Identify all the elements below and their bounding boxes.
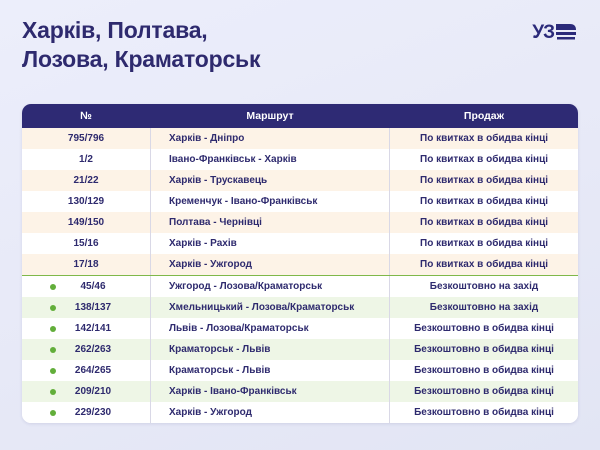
- page-title-line-1: Харків, Полтава,: [22, 16, 442, 45]
- table-row: 229/230Харків - УжгородБезкоштовно в оби…: [22, 402, 578, 423]
- free-travel-dot-icon: [50, 305, 56, 311]
- page-title-line-2: Лозова, Краматорськ: [22, 45, 442, 74]
- table-row: 149/150Полтава - ЧернівціПо квитках в об…: [22, 212, 578, 233]
- cell-train-number: 264/265: [22, 360, 150, 381]
- cell-sale-condition: По квитках в обидва кінці: [390, 170, 578, 191]
- table-row: 1/2Івано-Франківськ - ХарківПо квитках в…: [22, 149, 578, 170]
- cell-sale-condition: По квитках в обидва кінці: [390, 191, 578, 212]
- cell-route: Харків - Дніпро: [150, 128, 390, 149]
- cell-train-number: 262/263: [22, 339, 150, 360]
- train-number-label: 1/2: [79, 154, 93, 165]
- column-header-route: Маршрут: [150, 104, 390, 128]
- table-row: 21/22Харків - ТрускавецьПо квитках в оби…: [22, 170, 578, 191]
- cell-sale-condition: Безкоштовно на захід: [390, 276, 578, 297]
- cell-train-number: 21/22: [22, 170, 150, 191]
- cell-train-number: 149/150: [22, 212, 150, 233]
- table-row: 15/16Харків - РахівПо квитках в обидва к…: [22, 233, 578, 254]
- cell-train-number: 209/210: [22, 381, 150, 402]
- cell-sale-condition: Безкоштовно в обидва кінці: [390, 360, 578, 381]
- cell-route: Хмельницький - Лозова/Краматорськ: [150, 297, 390, 318]
- cell-route: Кременчук - Івано-Франківськ: [150, 191, 390, 212]
- train-number-label: 15/16: [73, 238, 98, 249]
- table-row: 45/46Ужгород - Лозова/КраматорськБезкошт…: [22, 275, 578, 297]
- free-travel-dot-icon: [50, 410, 56, 416]
- cell-route: Краматорськ - Львів: [150, 339, 390, 360]
- cell-sale-condition: По квитках в обидва кінці: [390, 149, 578, 170]
- cell-train-number: 130/129: [22, 191, 150, 212]
- column-header-number: №: [22, 104, 150, 128]
- cell-sale-condition: Безкоштовно в обидва кінці: [390, 318, 578, 339]
- cell-sale-condition: По квитках в обидва кінці: [390, 212, 578, 233]
- cell-sale-condition: Безкоштовно в обидва кінці: [390, 402, 578, 423]
- table-row: 17/18Харків - УжгородПо квитках в обидва…: [22, 254, 578, 275]
- train-number-label: 21/22: [73, 175, 98, 186]
- cell-route: Львів - Лозова/Краматорськ: [150, 318, 390, 339]
- page-header: Харків, Полтава, Лозова, Краматорськ УЗ: [0, 0, 600, 100]
- train-number-label: 130/129: [68, 196, 104, 207]
- cell-train-number: 795/796: [22, 128, 150, 149]
- table-row: 209/210Харків - Івано-ФранківськБезкошто…: [22, 381, 578, 402]
- cell-sale-condition: По квитках в обидва кінці: [390, 254, 578, 275]
- table-row: 795/796Харків - ДніпроПо квитках в обидв…: [22, 128, 578, 149]
- table-header-row: № Маршрут Продаж: [22, 104, 578, 128]
- column-header-sale: Продаж: [390, 104, 578, 128]
- cell-sale-condition: По квитках в обидва кінці: [390, 233, 578, 254]
- cell-sale-condition: По квитках в обидва кінці: [390, 128, 578, 149]
- cell-route: Краматорськ - Львів: [150, 360, 390, 381]
- train-number-label: 795/796: [68, 133, 104, 144]
- cell-route: Харків - Івано-Франківськ: [150, 381, 390, 402]
- free-travel-dot-icon: [50, 347, 56, 353]
- cell-route: Харків - Ужгород: [150, 402, 390, 423]
- trains-table: № Маршрут Продаж 795/796Харків - ДніпроП…: [22, 104, 578, 423]
- train-number-label: 229/230: [75, 407, 111, 418]
- train-number-label: 149/150: [68, 217, 104, 228]
- cell-train-number: 17/18: [22, 254, 150, 275]
- cell-route: Харків - Рахів: [150, 233, 390, 254]
- cell-train-number: 1/2: [22, 149, 150, 170]
- table-row: 264/265Краматорськ - ЛьвівБезкоштовно в …: [22, 360, 578, 381]
- table-row: 130/129Кременчук - Івано-ФранківськПо кв…: [22, 191, 578, 212]
- train-number-label: 45/46: [80, 281, 105, 292]
- uz-logo-text: УЗ: [532, 23, 554, 42]
- cell-sale-condition: Безкоштовно в обидва кінці: [390, 339, 578, 360]
- uz-logo: УЗ: [520, 18, 578, 46]
- free-travel-dot-icon: [50, 326, 56, 332]
- cell-train-number: 15/16: [22, 233, 150, 254]
- train-number-label: 142/141: [75, 323, 111, 334]
- free-travel-dot-icon: [50, 368, 56, 374]
- table-row: 262/263Краматорськ - ЛьвівБезкоштовно в …: [22, 339, 578, 360]
- cell-train-number: 229/230: [22, 402, 150, 423]
- train-number-label: 209/210: [75, 386, 111, 397]
- cell-sale-condition: Безкоштовно в обидва кінці: [390, 381, 578, 402]
- cell-route: Харків - Трускавець: [150, 170, 390, 191]
- train-number-label: 138/137: [75, 302, 111, 313]
- train-number-label: 262/263: [75, 344, 111, 355]
- cell-sale-condition: Безкоштовно на захід: [390, 297, 578, 318]
- cell-route: Івано-Франківськ - Харків: [150, 149, 390, 170]
- table-row: 142/141Львів - Лозова/КраматорськБезкошт…: [22, 318, 578, 339]
- free-travel-dot-icon: [50, 284, 56, 290]
- page-title: Харків, Полтава, Лозова, Краматорськ: [22, 16, 442, 75]
- cell-route: Полтава - Чернівці: [150, 212, 390, 233]
- cell-route: Харків - Ужгород: [150, 254, 390, 275]
- cell-train-number: 142/141: [22, 318, 150, 339]
- train-number-label: 17/18: [73, 259, 98, 270]
- table-row: 138/137Хмельницький - Лозова/Краматорськ…: [22, 297, 578, 318]
- uz-rail-mark-icon: [554, 22, 578, 42]
- cell-train-number: 45/46: [22, 276, 150, 297]
- free-travel-dot-icon: [50, 389, 56, 395]
- cell-route: Ужгород - Лозова/Краматорськ: [150, 276, 390, 297]
- train-number-label: 264/265: [75, 365, 111, 376]
- cell-train-number: 138/137: [22, 297, 150, 318]
- table-body: 795/796Харків - ДніпроПо квитках в обидв…: [22, 128, 578, 423]
